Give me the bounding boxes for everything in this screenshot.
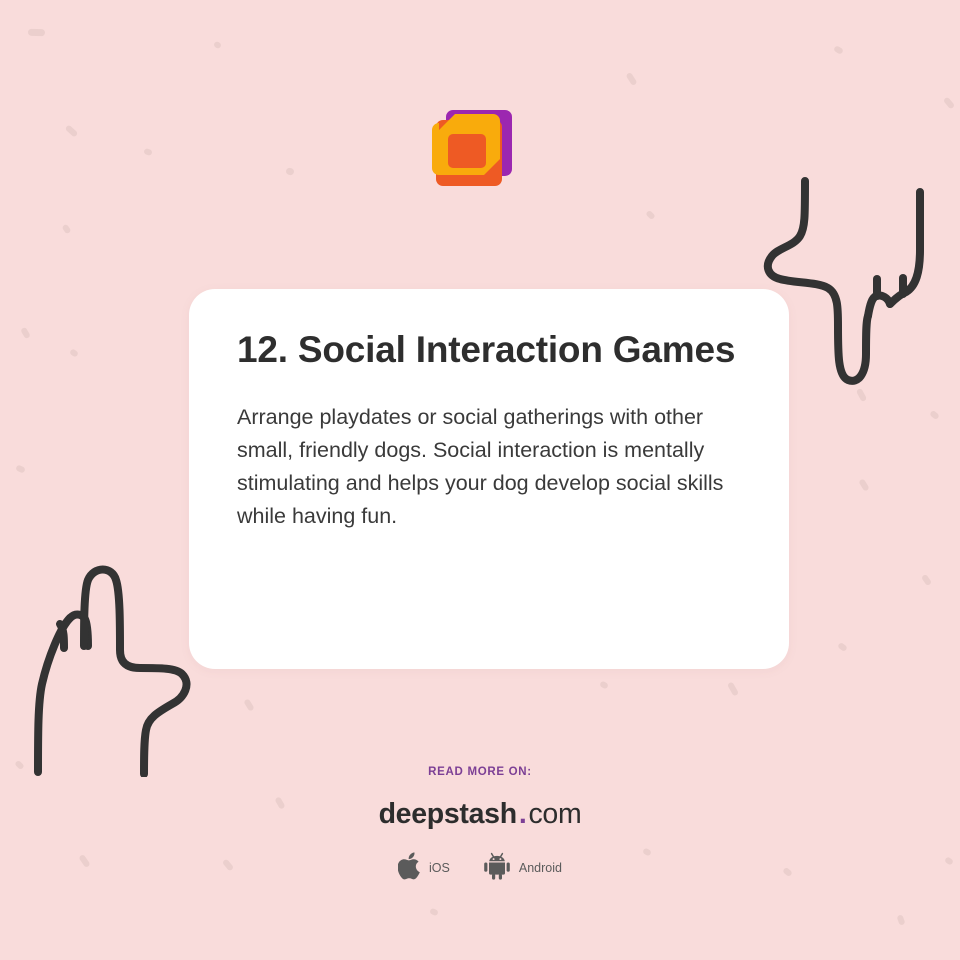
app-store-row: iOS (0, 851, 960, 886)
confetti-dash (856, 388, 867, 402)
confetti-dash (943, 96, 955, 109)
confetti-dash (61, 224, 71, 235)
idea-card: 12. Social Interaction Games Arrange pla… (189, 289, 789, 669)
confetti-dash (213, 41, 222, 50)
confetti-dash (69, 348, 79, 358)
footer: READ MORE ON: deepstash.com iOS (0, 766, 960, 886)
apple-icon (398, 852, 422, 885)
confetti-dash (858, 478, 869, 491)
card-body-text: Arrange playdates or social gatherings w… (237, 401, 741, 533)
confetti-dash (20, 327, 31, 340)
confetti-dash (645, 210, 656, 221)
pointing-hand-icon (26, 562, 201, 782)
confetti-dash (626, 72, 638, 86)
brand-dot: . (519, 798, 527, 830)
confetti-dash (837, 642, 848, 652)
read-more-label: READ MORE ON: (0, 766, 960, 778)
confetti-dash (15, 464, 26, 473)
ios-store-link[interactable]: iOS (398, 852, 450, 885)
deepstash-logo (429, 104, 517, 198)
confetti-dash (896, 914, 905, 925)
confetti-dash (429, 908, 439, 917)
confetti-dash (833, 45, 844, 55)
brand-wordmark[interactable]: deepstash.com (0, 800, 960, 829)
ios-store-label: iOS (429, 861, 450, 875)
confetti-dash (143, 148, 153, 156)
brand-tld: com (528, 798, 581, 830)
android-store-label: Android (519, 861, 562, 875)
card-title: 12. Social Interaction Games (237, 325, 741, 375)
confetti-dash (243, 698, 254, 711)
android-store-link[interactable]: Android (482, 851, 562, 886)
android-icon (482, 851, 512, 886)
confetti-dash (727, 681, 739, 696)
confetti-dash (285, 167, 295, 176)
confetti-dash (929, 410, 940, 420)
confetti-dash (65, 124, 79, 137)
confetti-dash (921, 574, 932, 586)
poster-canvas: 12. Social Interaction Games Arrange pla… (0, 0, 960, 960)
brand-name: deepstash (379, 798, 517, 830)
confetti-dash (28, 29, 45, 37)
confetti-dash (599, 680, 609, 689)
